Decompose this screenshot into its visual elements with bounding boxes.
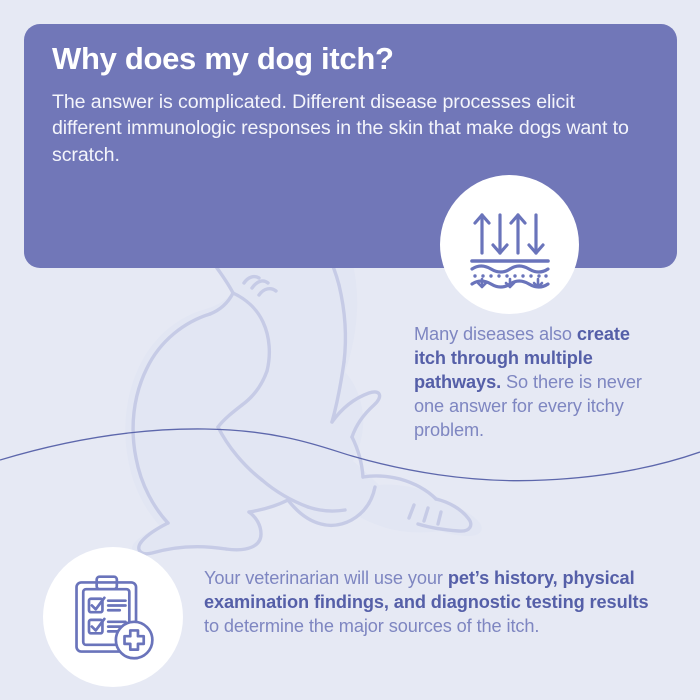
infographic-canvas: Why does my dog itch? The answer is comp…	[0, 0, 700, 700]
vet-text-plain: Your veterinarian will use your pet’s hi…	[204, 566, 205, 567]
pathways-text-block: Many diseases also create itch through m…	[414, 322, 658, 442]
vet-segment-2: to determine the major sources of the it…	[204, 616, 539, 636]
pathways-segment-0: Many diseases also	[414, 324, 577, 344]
pathways-text-plain: Many diseases also create itch through m…	[414, 322, 415, 323]
header-description: The answer is complicated. Different dis…	[52, 89, 647, 168]
skin-barrier-arrows-icon	[460, 195, 560, 295]
clipboard-icon-circle	[43, 547, 183, 687]
skin-dots	[473, 274, 547, 277]
skin-barrier-icon-circle	[440, 175, 579, 314]
medical-cross-badge	[116, 622, 152, 658]
header-card: Why does my dog itch? The answer is comp…	[24, 24, 677, 268]
vet-segment-0: Your veterinarian will use your	[204, 568, 448, 588]
page-title: Why does my dog itch?	[52, 42, 647, 76]
clipboard-checklist-medical-icon	[65, 569, 161, 665]
vet-text-block: Your veterinarian will use your pet’s hi…	[204, 566, 654, 639]
